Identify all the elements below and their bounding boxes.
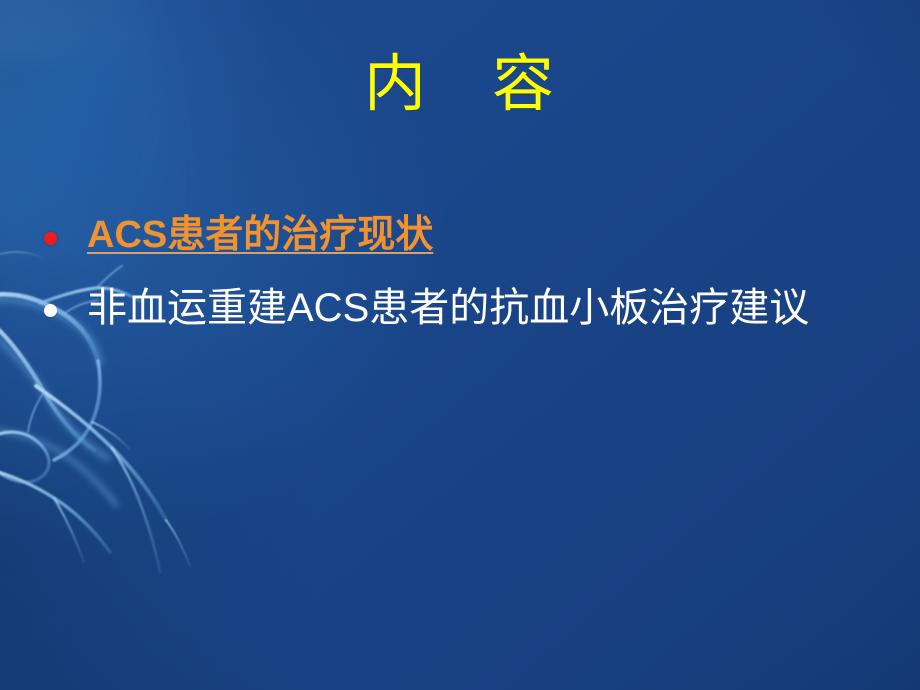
bullet-item-label-2: 非血运重建ACS患者的抗血小板治疗建议 <box>87 284 809 333</box>
bullet-item-label-1: ACS患者的治疗现状 <box>87 212 433 258</box>
bullet-list: ACS患者的治疗现状 非血运重建ACS患者的抗血小板治疗建议 <box>44 212 890 359</box>
list-item[interactable]: ACS患者的治疗现状 <box>44 212 890 258</box>
list-item[interactable]: 非血运重建ACS患者的抗血小板治疗建议 <box>44 284 890 333</box>
bullet-dot-icon <box>44 304 57 317</box>
page-title: 内 容 <box>0 52 920 117</box>
presentation-slide: 内 容 ACS患者的治疗现状 非血运重建ACS患者的抗血小板治疗建议 <box>0 0 920 690</box>
bullet-dot-icon <box>44 232 57 245</box>
